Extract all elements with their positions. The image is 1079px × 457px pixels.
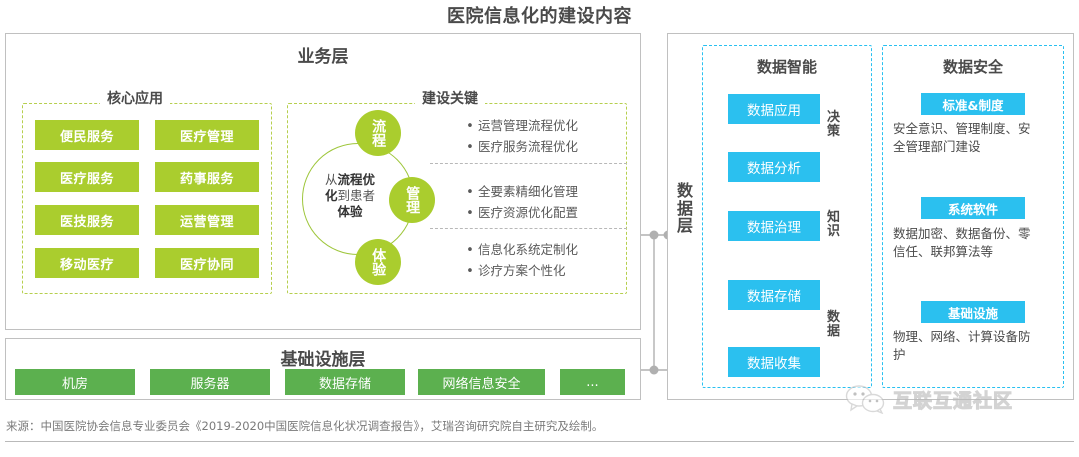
source-note: 来源：中国医院协会信息专业委员会《2019-2020中国医院信息化状况调查报告》… bbox=[6, 418, 603, 434]
bullet-text: 诊疗方案个性化 bbox=[478, 261, 566, 280]
security-text-infrastructure: 物理、网络、计算设备防护 bbox=[893, 328, 1041, 364]
venn-center-text: 从流程优化到患者体验 bbox=[304, 172, 396, 220]
key-bullet-group: • 信息化系统定制化 • 诊疗方案个性化 bbox=[462, 240, 652, 282]
security-chip-software[interactable]: 系统软件 bbox=[921, 197, 1025, 219]
data-stack-item[interactable]: 数据应用 bbox=[728, 94, 820, 124]
core-app-button[interactable]: 医疗管理 bbox=[155, 120, 259, 150]
core-app-button[interactable]: 便民服务 bbox=[35, 120, 139, 150]
core-app-button[interactable]: 医技服务 bbox=[35, 205, 139, 235]
infra-button[interactable]: 服务器 bbox=[150, 369, 270, 395]
stage-label-knowledge: 知识 bbox=[826, 211, 841, 239]
bullet-dot-icon: • bbox=[462, 117, 478, 137]
business-layer-title: 业务层 bbox=[5, 42, 641, 67]
watermark: 互联互通社区 bbox=[845, 384, 1013, 414]
bullet-dot-icon: • bbox=[462, 183, 478, 203]
core-app-button[interactable]: 运营管理 bbox=[155, 205, 259, 235]
data-stack-item[interactable]: 数据分析 bbox=[728, 152, 820, 182]
data-layer-label: 数据层 bbox=[676, 182, 694, 235]
diagram-root: 医院信息化的建设内容 业务层 核心应用 便民服务 医疗管理 医疗服务 药事服务 … bbox=[0, 0, 1079, 457]
data-security-title: 数据安全 bbox=[882, 56, 1064, 77]
security-text-standards: 安全意识、管理制度、安全管理部门建设 bbox=[893, 120, 1041, 156]
core-app-button[interactable]: 医疗服务 bbox=[35, 162, 139, 192]
bullet-item: • 医疗服务流程优化 bbox=[462, 137, 652, 158]
bullet-dot-icon: • bbox=[462, 138, 478, 158]
infra-button-more[interactable]: ... bbox=[560, 369, 625, 395]
bullet-dot-icon: • bbox=[462, 241, 478, 261]
security-text-software: 数据加密、数据备份、零信任、联邦算法等 bbox=[893, 225, 1041, 261]
infrastructure-layer-title: 基础设施层 bbox=[5, 345, 641, 370]
wechat-icon bbox=[845, 384, 887, 414]
bullet-item: • 运营管理流程优化 bbox=[462, 116, 652, 137]
data-stack-item[interactable]: 数据存储 bbox=[728, 280, 820, 310]
data-stack-item[interactable]: 数据收集 bbox=[728, 347, 820, 377]
venn-circle-experience[interactable]: 体验 bbox=[355, 239, 401, 285]
core-app-button[interactable]: 药事服务 bbox=[155, 162, 259, 192]
bullet-text: 全要素精细化管理 bbox=[478, 182, 578, 201]
bullet-item: • 医疗资源优化配置 bbox=[462, 203, 652, 224]
watermark-text: 互联互通社区 bbox=[893, 386, 1013, 413]
key-points-label: 建设关键 bbox=[415, 88, 485, 108]
bullet-dot-icon: • bbox=[462, 262, 478, 282]
infra-button[interactable]: 数据存储 bbox=[285, 369, 405, 395]
data-intelligence-title: 数据智能 bbox=[702, 56, 872, 77]
infra-button[interactable]: 机房 bbox=[15, 369, 135, 395]
infra-button[interactable]: 网络信息安全 bbox=[418, 369, 545, 395]
footer-divider bbox=[5, 441, 1074, 442]
page-title: 医院信息化的建设内容 bbox=[0, 2, 1079, 28]
stage-label-data: 数据 bbox=[826, 311, 841, 339]
data-stack-item[interactable]: 数据治理 bbox=[728, 211, 820, 241]
bullet-item: • 全要素精细化管理 bbox=[462, 182, 652, 203]
key-bullet-group: • 运营管理流程优化 • 医疗服务流程优化 bbox=[462, 116, 652, 158]
bullet-text: 医疗服务流程优化 bbox=[478, 137, 578, 156]
security-chip-standards[interactable]: 标准&制度 bbox=[921, 93, 1025, 115]
core-app-button[interactable]: 移动医疗 bbox=[35, 248, 139, 278]
bullet-item: • 信息化系统定制化 bbox=[462, 240, 652, 261]
bullet-item: • 诊疗方案个性化 bbox=[462, 261, 652, 282]
core-apps-label: 核心应用 bbox=[100, 88, 170, 108]
key-bullet-group: • 全要素精细化管理 • 医疗资源优化配置 bbox=[462, 182, 652, 224]
venn-circle-process[interactable]: 流程 bbox=[355, 110, 401, 156]
bullet-dot-icon: • bbox=[462, 204, 478, 224]
bullet-text: 信息化系统定制化 bbox=[478, 240, 578, 259]
bullet-separator bbox=[430, 228, 627, 229]
security-chip-infrastructure[interactable]: 基础设施 bbox=[921, 301, 1025, 323]
bullet-text: 运营管理流程优化 bbox=[478, 116, 578, 135]
core-app-button[interactable]: 医疗协同 bbox=[155, 248, 259, 278]
stage-label-decision: 决策 bbox=[826, 111, 841, 139]
bullet-text: 医疗资源优化配置 bbox=[478, 203, 578, 222]
bullet-separator bbox=[430, 163, 627, 164]
